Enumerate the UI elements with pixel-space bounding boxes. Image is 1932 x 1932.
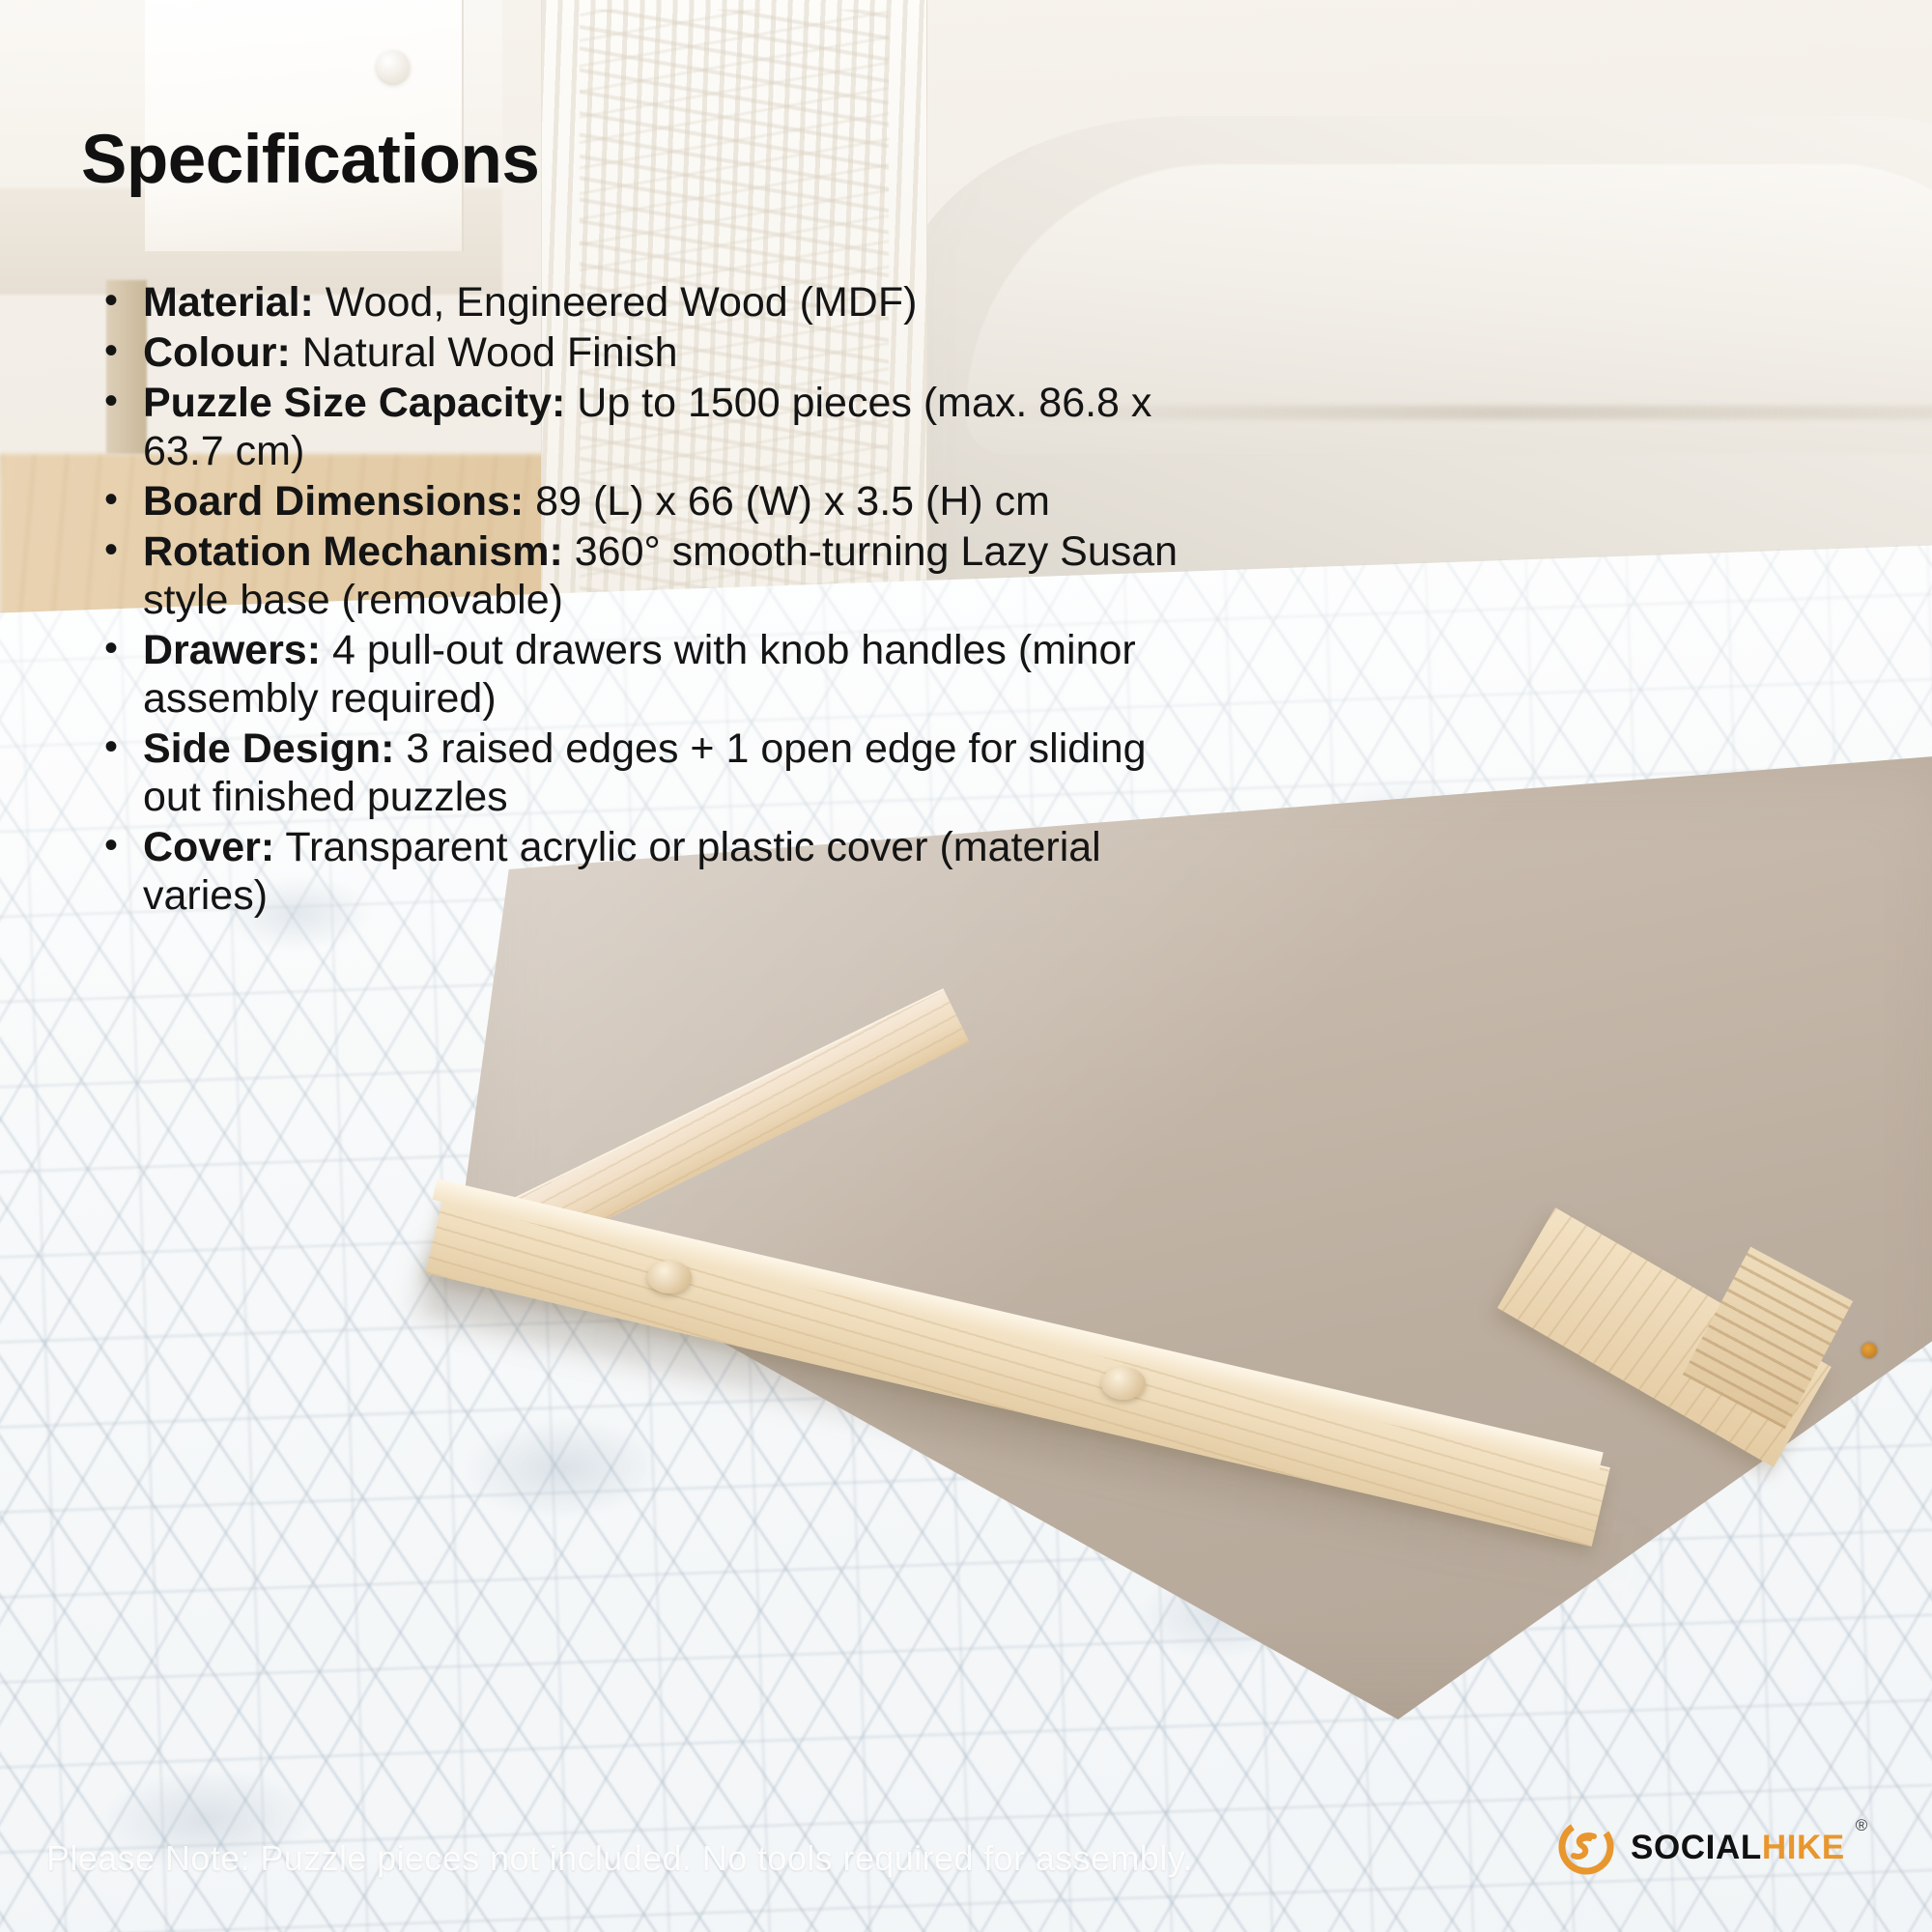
logo-wordmark: SOCIALHIKE®	[1631, 1831, 1845, 1864]
spec-item: Drawers: 4 pull-out drawers with knob ha…	[97, 626, 1179, 723]
spec-item-value: 89 (L) x 66 (W) x 3.5 (H) cm	[524, 478, 1050, 525]
spec-item: Board Dimensions: 89 (L) x 66 (W) x 3.5 …	[97, 477, 1179, 526]
slide-content: Specifications Material: Wood, Engineere…	[0, 0, 1932, 1932]
spec-item: Puzzle Size Capacity: Up to 1500 pieces …	[97, 379, 1179, 475]
spec-item: Cover: Transparent acrylic or plastic co…	[97, 823, 1179, 920]
spec-item: Side Design: 3 raised edges + 1 open edg…	[97, 724, 1179, 821]
spec-item-label: Puzzle Size Capacity:	[143, 380, 565, 426]
spec-item-label: Colour:	[143, 329, 291, 376]
spec-item-label: Drawers:	[143, 627, 321, 673]
spec-item-value: Wood, Engineered Wood (MDF)	[314, 279, 918, 326]
socialhike-spiral-s-icon	[1557, 1818, 1615, 1876]
page-title: Specifications	[81, 126, 539, 194]
spec-item-value: Natural Wood Finish	[291, 329, 678, 376]
spec-item: Material: Wood, Engineered Wood (MDF)	[97, 278, 1179, 327]
spec-item-label: Material:	[143, 279, 314, 326]
spec-item-label: Rotation Mechanism:	[143, 528, 563, 575]
spec-item-label: Cover:	[143, 824, 274, 870]
logo-word-hike: HIKE	[1762, 1829, 1845, 1866]
socialhike-logo[interactable]: SOCIALHIKE®	[1557, 1818, 1845, 1876]
spec-item: Colour: Natural Wood Finish	[97, 328, 1179, 377]
spec-item-value: Transparent acrylic or plastic cover (ma…	[143, 824, 1101, 919]
registered-trademark-icon: ®	[1856, 1817, 1868, 1833]
footer-note: Please Note: Puzzle pieces not included.…	[46, 1838, 1193, 1879]
logo-word-social: SOCIAL	[1631, 1829, 1762, 1866]
spec-item-label: Side Design:	[143, 725, 394, 772]
specifications-list: Material: Wood, Engineered Wood (MDF)Col…	[97, 278, 1179, 922]
spec-item-label: Board Dimensions:	[143, 478, 524, 525]
spec-item: Rotation Mechanism: 360° smooth-turning …	[97, 527, 1179, 624]
